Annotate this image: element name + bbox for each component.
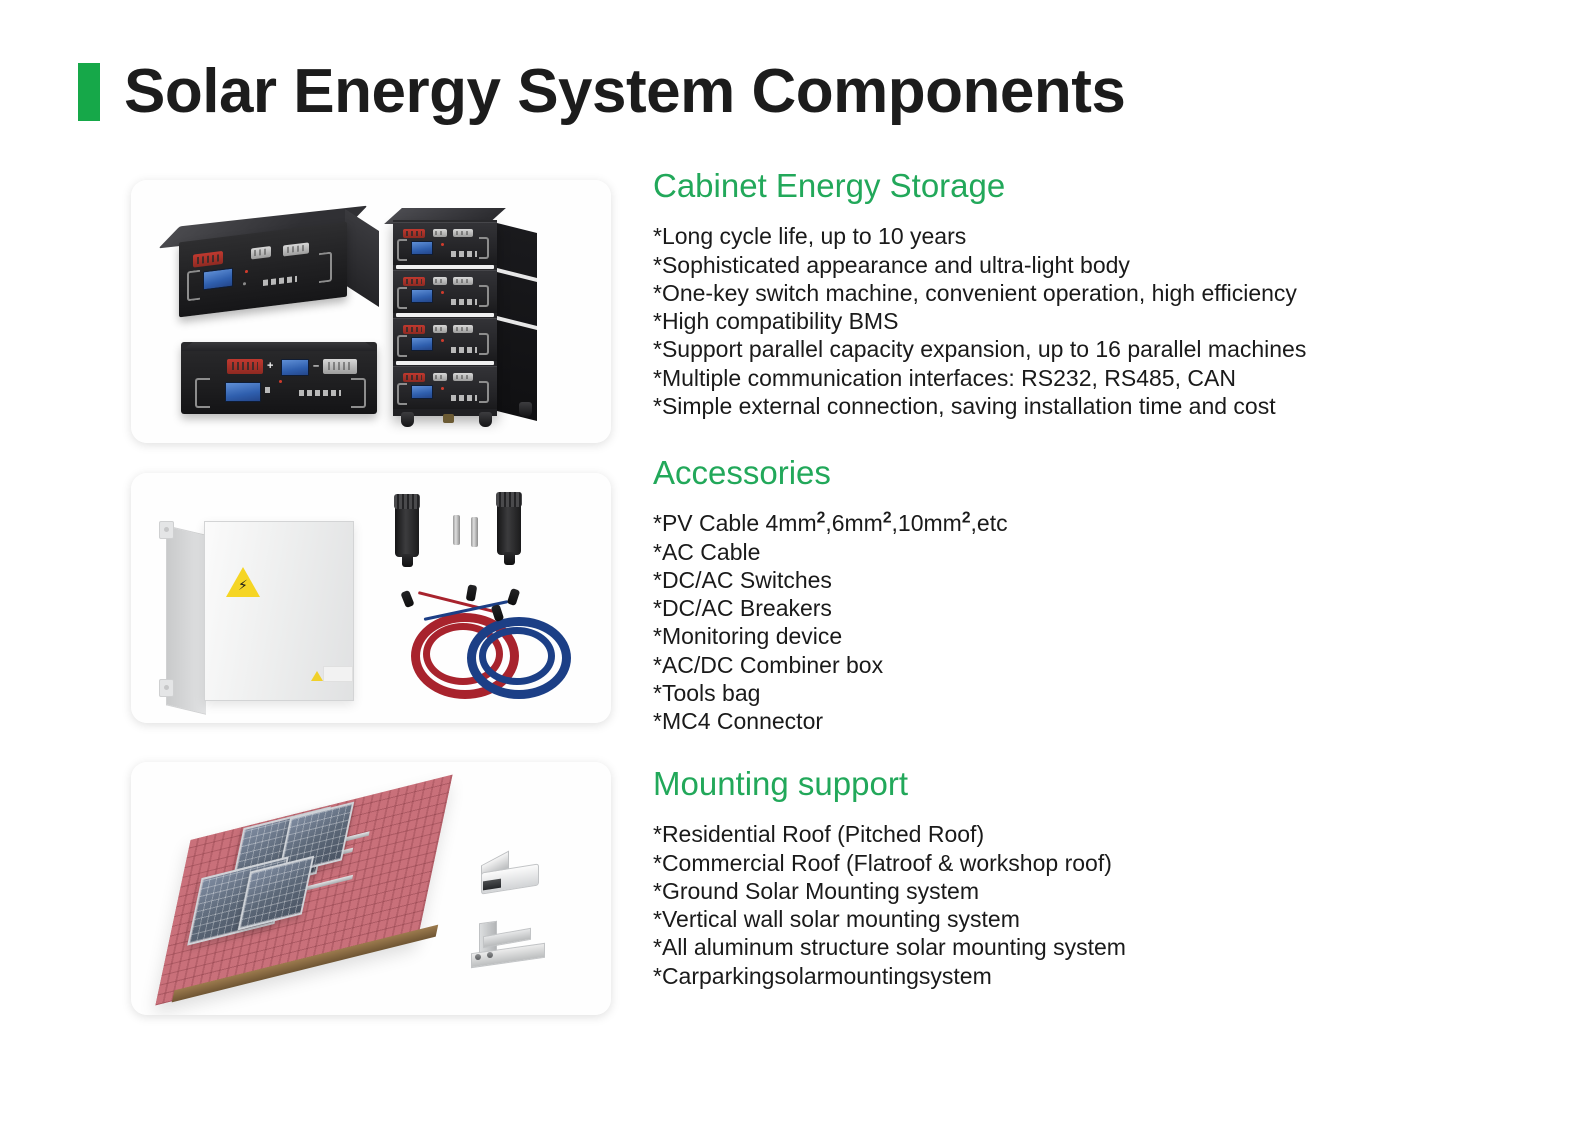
pv-cable-coil-blue-inner — [479, 627, 555, 685]
list-item: *MC4 Connector — [653, 707, 1553, 735]
list-item: *PV Cable 4mm2,6mm2,10mm2,etc — [653, 509, 1553, 537]
cable-connector-plug — [507, 588, 521, 606]
cable-connector-plug — [400, 590, 414, 608]
list-item: *AC Cable — [653, 538, 1553, 566]
list-item: *Vertical wall solar mounting system — [653, 905, 1553, 933]
list-item: *Sophisticated appearance and ultra-ligh… — [653, 251, 1553, 279]
list-item: *Residential Roof (Pitched Roof) — [653, 820, 1553, 848]
mc4-crimp-pin — [453, 515, 460, 545]
section-accessories: Accessories *PV Cable 4mm2,6mm2,10mm2,et… — [653, 455, 1553, 736]
list-item: *Commercial Roof (Flatroof & workshop ro… — [653, 849, 1553, 877]
cabinet-caster — [479, 412, 492, 427]
battery-cabinet-four-module — [393, 220, 497, 416]
mc4-connector-male — [395, 497, 419, 557]
combiner-box-mount-tab — [159, 521, 174, 539]
battery-module-rack-front: + – — [181, 342, 377, 414]
section-mounting-support: Mounting support *Residential Roof (Pitc… — [653, 766, 1553, 990]
section-heading: Mounting support — [653, 766, 1553, 802]
feature-list: *Residential Roof (Pitched Roof) *Commer… — [653, 820, 1553, 990]
page-title-row: Solar Energy System Components — [78, 57, 1125, 127]
cabinet-caster — [401, 412, 414, 427]
mc4-connector-female — [497, 495, 521, 555]
list-item: *Simple external connection, saving inst… — [653, 392, 1553, 420]
battery-module-side-face — [345, 209, 379, 307]
combiner-box-mount-tab — [159, 679, 174, 697]
list-item: *Support parallel capacity expansion, up… — [653, 335, 1553, 363]
cable-connector-plug — [466, 584, 478, 601]
page-title: Solar Energy System Components — [124, 61, 1125, 123]
cabinet-energy-storage-image: + – — [131, 180, 611, 443]
accessories-image — [131, 473, 611, 723]
list-item: *Multiple communication interfaces: RS23… — [653, 364, 1553, 392]
product-image-card-mounting-support — [131, 762, 611, 1015]
list-item: *Monitoring device — [653, 622, 1553, 650]
cabinet-foot — [443, 414, 454, 423]
list-item: *One-key switch machine, convenient oper… — [653, 279, 1553, 307]
section-heading: Accessories — [653, 455, 1553, 491]
combiner-box-label — [323, 666, 353, 682]
list-item: *Long cycle life, up to 10 years — [653, 222, 1553, 250]
feature-list: *Long cycle life, up to 10 years *Sophis… — [653, 222, 1553, 420]
section-heading: Cabinet Energy Storage — [653, 168, 1553, 204]
list-item: *Ground Solar Mounting system — [653, 877, 1553, 905]
product-image-card-cabinet-energy-storage: + – — [131, 180, 611, 443]
list-item: *Carparkingsolarmountingsystem — [653, 962, 1553, 990]
list-item: *AC/DC Combiner box — [653, 651, 1553, 679]
title-accent-bar — [78, 63, 100, 121]
small-warning-icon — [311, 671, 323, 681]
mounting-support-image — [131, 762, 611, 1015]
list-item: *Tools bag — [653, 679, 1553, 707]
section-cabinet-energy-storage: Cabinet Energy Storage *Long cycle life,… — [653, 168, 1553, 420]
feature-list: *PV Cable 4mm2,6mm2,10mm2,etc *AC Cable … — [653, 509, 1553, 735]
product-image-card-accessories — [131, 473, 611, 723]
l-foot-bolt — [475, 954, 481, 960]
list-item: *High compatibility BMS — [653, 307, 1553, 335]
list-item: *All aluminum structure solar mounting s… — [653, 933, 1553, 961]
list-item: *DC/AC Breakers — [653, 594, 1553, 622]
list-item: *DC/AC Switches — [653, 566, 1553, 594]
mc4-crimp-pin — [471, 517, 478, 547]
l-foot-bolt — [487, 952, 493, 958]
high-voltage-warning-icon — [226, 567, 260, 597]
cabinet-caster — [519, 402, 532, 417]
